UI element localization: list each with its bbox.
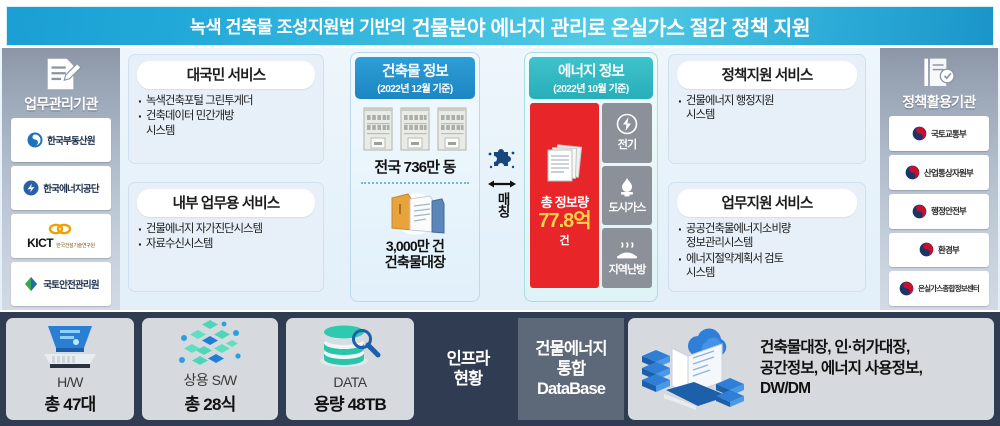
service-box-work: 업무지원 서비스 공공건축물에너지소비량 정보관리시스템 에너지절약계획서 검토… (668, 182, 866, 292)
cloud-laptop-data-icon (636, 326, 754, 412)
building-icon (362, 106, 394, 152)
infra-card-value: 총 28식 (185, 390, 236, 415)
org-card-motie[interactable]: 산업통상자원부 (889, 155, 989, 190)
government-taegeuk-logo (912, 204, 927, 219)
district-heating-icon (615, 240, 639, 260)
org-card-kalis[interactable]: 국토안전관리원 (11, 262, 111, 306)
energy-panel-header: 에너지 정보 (2022년 10월 기준) (529, 57, 653, 99)
ledger-documents-icon (378, 188, 452, 236)
org-name: 한국에너지공단 (43, 181, 99, 195)
server-hardware-icon (34, 318, 106, 374)
service-item: 건물에너지 행정지원 시스템 (678, 94, 859, 123)
org-card-gir[interactable]: 온실가스종합정보센터 (889, 271, 989, 306)
ledger-count-value: 3,000만 건 (386, 238, 444, 254)
icon-slot (172, 316, 248, 370)
panel-title: 건축물 정보 (355, 60, 475, 81)
org-name: 산업통상자원부 (924, 167, 973, 179)
service-item: 에너지절약계획서 검토 시스템 (678, 252, 859, 281)
org-name: 국토안전관리원 (43, 277, 99, 291)
energy-source-label: 지역난방 (609, 261, 646, 277)
service-item: 녹색건축포털 그린투게더 (138, 94, 317, 108)
energy-panel-content: 총 정보량 77.8억 건 전기 (530, 103, 652, 288)
service-title: 업무지원 서비스 (677, 189, 857, 217)
infra-card-label: DATA (333, 374, 366, 390)
ledger-count-stat: 3,000만 건 건축물대장 (351, 238, 479, 270)
panel-title: 에너지 정보 (529, 60, 653, 81)
org-card-korea-energy-agency[interactable]: 한국에너지공단 (11, 166, 111, 210)
policy-document-icon (916, 55, 962, 91)
org-subtitle: 한국건설기술연구원 (56, 242, 95, 249)
building-count-stat: 전국 736만 동 (351, 156, 479, 177)
stacked-documents-icon (542, 144, 588, 188)
org-name: 온실가스종합정보센터 (918, 283, 979, 294)
panel-divider (361, 182, 469, 184)
service-item-list: 건물에너지 자가진단시스템 자료수신시스템 (129, 222, 323, 252)
kict-logo (48, 223, 74, 236)
data-contents-text: 건축물대장, 인·허가대장, 공간정보, 에너지 사용정보, DW/DM (760, 338, 922, 399)
total-info-value: 77.8억 (538, 211, 590, 232)
org-card-korea-real-estate-board[interactable]: 한국부동산원 (11, 118, 111, 162)
infra-card-software: 상용 S/W 총 28식 (142, 318, 278, 420)
service-box-internal: 내부 업무용 서비스 건물에너지 자가진단시스템 자료수신시스템 (128, 182, 324, 292)
org-card-kict[interactable]: KICT 한국건설기술연구원 (11, 214, 111, 258)
building-info-panel: 건축물 정보 (2022년 12월 기준) (350, 52, 480, 302)
main-diagram-area: 업무관리기관 한국부동산원 한국에너지공단 (0, 48, 1000, 310)
database-search-icon (312, 319, 388, 373)
database-label: 건물에너지 통합 DataBase (518, 318, 624, 420)
gas-flame-icon (616, 176, 638, 198)
korea-real-estate-board-logo (27, 132, 43, 148)
infra-card-label: H/W (57, 374, 83, 390)
org-name: KICT (27, 236, 53, 250)
left-organization-column: 업무관리기관 한국부동산원 한국에너지공단 (2, 48, 120, 310)
energy-source-electricity: 전기 (602, 103, 652, 163)
title-light-part: 녹색 건축물 조성지원법 기반의 (190, 14, 406, 39)
infographic-page: 녹색 건축물 조성지원법 기반의 건물분야 에너지 관리로 온실가스 절감 정책… (0, 0, 1000, 426)
service-item: 건물에너지 자가진단시스템 (138, 222, 317, 236)
right-organization-column: 정책활용기관 국토교통부 산업통상자원부 (880, 48, 998, 310)
org-card-mois[interactable]: 행정안전부 (889, 194, 989, 229)
energy-source-list: 전기 도시가스 (602, 103, 652, 288)
service-title: 내부 업무용 서비스 (137, 189, 315, 217)
service-title: 대국민 서비스 (137, 61, 315, 89)
panel-subtitle: (2022년 10월 기준) (529, 80, 653, 95)
infra-card-data: DATA 용량 48TB (286, 318, 414, 420)
building-icon (399, 106, 431, 152)
infra-card-value: 총 47대 (45, 390, 96, 415)
energy-source-citygas: 도시가스 (602, 166, 652, 226)
org-name: 국토교통부 (931, 128, 966, 140)
infra-card-hardware: H/W 총 47대 (6, 318, 134, 420)
service-item: 자료수신시스템 (138, 237, 317, 251)
ledger-icon-wrap (351, 188, 479, 236)
service-title: 정책지원 서비스 (677, 61, 857, 89)
service-item-list: 녹색건축포털 그린투게더 건축데이터 민간개방 시스템 (129, 94, 323, 138)
building-panel-header: 건축물 정보 (2022년 12월 기준) (355, 57, 475, 99)
right-column-title: 정책활용기관 (902, 92, 976, 112)
icon-slot (34, 318, 106, 374)
infra-status-label: 인프라 현황 (418, 318, 518, 420)
building-icon-group (351, 106, 479, 152)
energy-info-panel: 에너지 정보 (2022년 10월 기준) 총 정보 (524, 52, 658, 302)
service-box-policy: 정책지원 서비스 건물에너지 행정지원 시스템 (668, 54, 866, 164)
org-name: 환경부 (938, 244, 959, 256)
korea-energy-agency-logo (23, 180, 39, 196)
org-name: 행정안전부 (931, 205, 966, 217)
puzzle-piece-icon (487, 148, 517, 176)
infra-card-value: 용량 48TB (314, 390, 386, 415)
double-arrow-icon (487, 178, 517, 190)
infra-card-label: 상용 S/W (183, 370, 236, 390)
org-card-me[interactable]: 환경부 (889, 233, 989, 268)
org-name: 한국부동산원 (47, 133, 95, 147)
lightning-bolt-icon (616, 113, 638, 135)
total-info-label: 총 정보량 (541, 192, 588, 211)
panel-subtitle: (2022년 12월 기준) (355, 80, 475, 95)
org-card-molit[interactable]: 국토교통부 (889, 116, 989, 151)
energy-source-label: 도시가스 (609, 199, 646, 215)
service-box-public: 대국민 서비스 녹색건축포털 그린투게더 건축데이터 민간개방 시스템 (128, 54, 324, 164)
left-column-title: 업무관리기관 (24, 94, 98, 114)
government-taegeuk-logo (912, 126, 927, 141)
data-contents-card: 건축물대장, 인·허가대장, 공간정보, 에너지 사용정보, DW/DM (628, 318, 994, 420)
building-icon (436, 106, 468, 152)
service-item-list: 건물에너지 행정지원 시스템 (669, 94, 865, 123)
service-item-list: 공공건축물에너지소비량 정보관리시스템 에너지절약계획서 검토 시스템 (669, 222, 865, 281)
icon-slot (312, 318, 388, 374)
matching-connector: 매칭 (486, 112, 518, 252)
page-title-banner: 녹색 건축물 조성지원법 기반의 건물분야 에너지 관리로 온실가스 절감 정책… (6, 6, 994, 46)
software-cubes-icon (172, 316, 248, 370)
matching-label: 매칭 (495, 192, 509, 217)
energy-source-district-heating: 지역난방 (602, 228, 652, 288)
government-taegeuk-logo (905, 165, 920, 180)
total-info-unit: 건 (559, 232, 569, 248)
document-edit-icon (38, 55, 84, 93)
kalis-logo (23, 276, 39, 292)
ledger-count-label: 건축물대장 (385, 254, 445, 270)
total-info-block: 총 정보량 77.8억 건 (530, 103, 599, 288)
infrastructure-bar: H/W 총 47대 (0, 312, 1000, 426)
energy-source-label: 전기 (618, 136, 636, 152)
government-taegeuk-logo (919, 242, 934, 257)
title-bold-part: 건물분야 에너지 관리로 온실가스 절감 정책 지원 (412, 11, 810, 41)
service-item: 건축데이터 민간개방 시스템 (138, 109, 317, 138)
government-taegeuk-logo (899, 281, 914, 296)
service-item: 공공건축물에너지소비량 정보관리시스템 (678, 222, 859, 251)
